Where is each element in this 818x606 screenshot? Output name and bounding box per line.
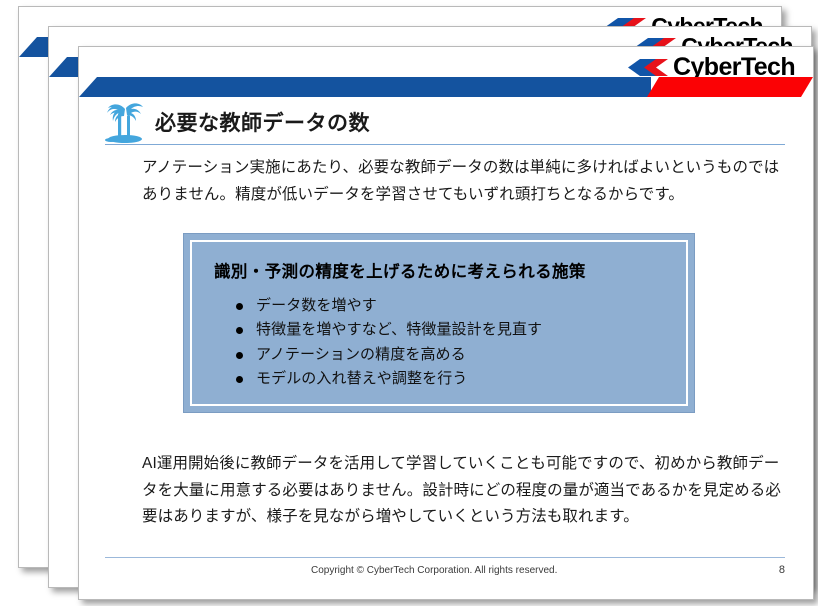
list-item: 特徴量を増やすなど、特徴量設計を見直す (236, 318, 668, 342)
double-chevron-left-icon (628, 59, 668, 76)
footer-divider (105, 557, 785, 558)
palm-tree-island-icon (101, 99, 149, 145)
closing-paragraph: AI運用開始後に教師データを活用して学習していくことも可能ですので、初めから教師… (142, 451, 783, 531)
header-bar (79, 77, 813, 97)
slide-title-row: 必要な教師データの数 (101, 99, 787, 145)
page-number: 8 (779, 564, 785, 576)
list-item: データ数を増やす (236, 294, 668, 318)
active-slide[interactable]: CyberTech 必要な教師データの数 (78, 46, 814, 600)
bullet-icon (236, 376, 243, 383)
title-divider (105, 144, 785, 145)
list-item: モデルの入れ替えや調整を行う (236, 367, 668, 391)
slide-deck: CyberTech CyberTech (0, 0, 818, 606)
copyright-text: Copyright © CyberTech Corporation. All r… (311, 565, 557, 576)
bullet-icon (236, 327, 243, 334)
bullet-icon (236, 303, 243, 310)
callout-heading: 識別・予測の精度を上げるために考えられる施策 (214, 258, 668, 282)
bullet-icon (236, 352, 243, 359)
list-item: アノテーションの精度を高める (236, 343, 668, 367)
callout-box: 識別・予測の精度を上げるために考えられる施策 データ数を増やす 特徴量を増やすな… (183, 233, 695, 413)
list-item-label: モデルの入れ替えや調整を行う (256, 370, 467, 387)
header-bar-shape (79, 77, 813, 97)
list-item-label: 特徴量を増やすなど、特徴量設計を見直す (256, 321, 542, 338)
callout-list: データ数を増やす 特徴量を増やすなど、特徴量設計を見直す アノテーションの精度を… (214, 294, 668, 391)
list-item-label: データ数を増やす (256, 297, 377, 314)
intro-paragraph: アノテーション実施にあたり、必要な教師データの数は単純に多ければよいというもので… (142, 155, 783, 208)
callout-inner-frame: 識別・予測の精度を上げるために考えられる施策 データ数を増やす 特徴量を増やすな… (190, 240, 688, 406)
list-item-label: アノテーションの精度を高める (256, 346, 466, 363)
page-title: 必要な教師データの数 (155, 107, 370, 137)
